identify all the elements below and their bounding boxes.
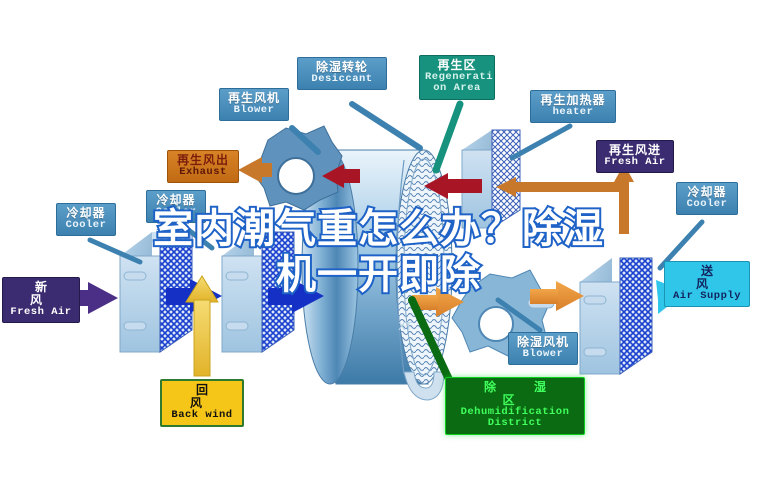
callout-dehum-area-en-2: District [451, 418, 579, 429]
regen-air-in-arrow [496, 177, 624, 197]
svg-text:XT: XT [398, 320, 412, 333]
callout-fresh-air-en: Fresh Air [8, 307, 74, 318]
callout-exhaust-en: Exhaust [173, 167, 233, 178]
callout-regen-in[interactable]: 再生风进 Fresh Air [596, 140, 674, 173]
callout-dehum-area[interactable]: 除 湿 区 Dehumidification District [445, 377, 585, 435]
callout-exhaust-cn: 再生风出 [173, 154, 233, 167]
callout-heater-en: heater [536, 107, 610, 118]
headline-overlay: 室内潮气重怎么办？除湿 机一开即除 [0, 206, 757, 298]
callout-regen-blower-en: Blower [225, 105, 283, 116]
callout-regen-area-en-2: on Area [425, 83, 489, 94]
headline-line-2: 机一开即除 [0, 252, 757, 298]
callout-regen-in-cn: 再生风进 [602, 144, 668, 157]
callout-exhaust[interactable]: 再生风出 Exhaust [167, 150, 239, 183]
callout-regen-area-cn: 再生区 [425, 59, 489, 72]
callout-desiccant-cn: 除湿转轮 [303, 61, 381, 74]
callout-regen-blower-cn: 再生风机 [225, 92, 283, 105]
callout-dehum-blower-cn: 除湿风机 [514, 336, 572, 349]
callout-heater[interactable]: 再生加热器 heater [530, 90, 616, 123]
dehumidifier-principle-diagram: XT [0, 0, 757, 488]
callout-dehum-area-cn: 除 湿 区 [451, 381, 579, 407]
callout-back-wind-cn: 回 风 [167, 384, 237, 410]
callout-dehum-blower-en: Blower [514, 349, 572, 360]
headline-line-1: 室内潮气重怎么办？除湿 [153, 206, 604, 252]
callout-regen-area[interactable]: 再生区 Regenerati on Area [419, 55, 495, 100]
callout-back-wind[interactable]: 回 风 Back wind [160, 379, 244, 427]
callout-cooler-right-cn: 冷却器 [682, 186, 732, 199]
callout-heater-cn: 再生加热器 [536, 94, 610, 107]
callout-desiccant[interactable]: 除湿转轮 Desiccant [297, 57, 387, 90]
callout-regen-in-en: Fresh Air [602, 157, 668, 168]
callout-desiccant-en: Desiccant [303, 74, 381, 85]
callout-back-wind-en: Back wind [167, 410, 237, 421]
callout-dehum-blower[interactable]: 除湿风机 Blower [508, 332, 578, 365]
callout-regen-blower[interactable]: 再生风机 Blower [219, 88, 289, 121]
callout-cooler-mid-cn: 冷却器 [152, 194, 200, 207]
